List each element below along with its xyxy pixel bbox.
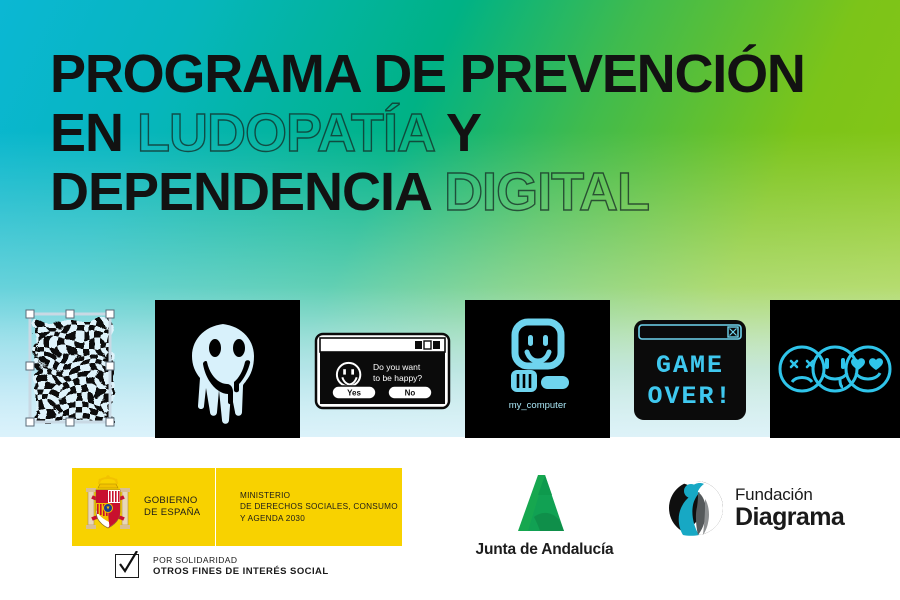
ministerio-line-3: Y AGENDA 2030: [240, 513, 398, 524]
melting-smiley-face-icon: [155, 300, 300, 438]
gobierno-label: GOBIERNO DE ESPAÑA: [144, 495, 216, 518]
retro-computer-smiley-icon: my_computer: [465, 300, 610, 438]
title-segment-y: Y: [433, 103, 481, 163]
solidarity-label: POR SOLIDARIDAD OTROS FINES DE INTERÉS S…: [153, 555, 329, 577]
dialog-no-button-label: No: [405, 389, 416, 398]
solidarity-line-1: POR SOLIDARIDAD: [153, 555, 329, 565]
dialog-window-icon[interactable]: Do you want to be happy? Yes No: [310, 300, 455, 438]
page-title: PROGRAMA DE PREVENCIÓN EN LUDOPATÍA Y DE…: [50, 48, 880, 225]
title-line-2: EN LUDOPATÍA Y: [50, 107, 880, 160]
junta-de-andalucia-logo: Junta de Andalucía: [462, 473, 627, 559]
poster-canvas: PROGRAMA DE PREVENCIÓN EN LUDOPATÍA Y DE…: [0, 0, 900, 600]
fundacion-diagrama-logo: Fundación Diagrama: [665, 477, 844, 539]
logo-band: GOBIERNO DE ESPAÑA MINISTERIO DE DERECHO…: [0, 455, 900, 600]
dialog-yes-button-label: Yes: [347, 389, 361, 398]
my-computer-label: my_computer: [509, 400, 567, 411]
title-segment-en: EN: [50, 103, 137, 163]
title-segment-digital: DIGITAL: [444, 162, 649, 222]
title-line-1: PROGRAMA DE PREVENCIÓN: [50, 48, 880, 101]
title-segment-programa: PROGRAMA DE PREVENCIÓN: [50, 44, 805, 104]
title-segment-dependencia: DEPENDENCIA: [50, 162, 444, 222]
game-over-line-2: OVER!: [647, 382, 732, 411]
tile-my-computer: my_computer: [465, 300, 610, 438]
game-over-line-1: GAME: [656, 351, 724, 380]
solidarity-checkbox[interactable]: [115, 554, 139, 578]
ministerio-line-1: MINISTERIO: [240, 490, 398, 501]
pixel-window-icon[interactable]: GAME OVER!: [620, 300, 765, 438]
tile-melting-smiley: [155, 300, 300, 438]
diagrama-line-1: Fundación: [735, 486, 844, 503]
junta-label: Junta de Andalucía: [462, 541, 627, 559]
gobierno-line-2: DE ESPAÑA: [144, 507, 216, 519]
solidarity-line-2: OTROS FINES DE INTERÉS SOCIAL: [153, 566, 329, 577]
dialog-message-line2: to be happy?: [373, 373, 422, 383]
gobierno-divider: [215, 468, 216, 546]
tile-three-faces: [770, 300, 900, 438]
gobierno-de-espana-logo: GOBIERNO DE ESPAÑA MINISTERIO DE DERECHO…: [72, 468, 402, 546]
title-segment-ludopatia: LUDOPATÍA: [137, 103, 433, 163]
diagrama-figure-logo-icon: [665, 477, 727, 539]
image-tile-strip: Do you want to be happy? Yes No: [0, 300, 900, 438]
andalusia-a-logo-icon: [504, 473, 586, 537]
tile-happy-dialog: Do you want to be happy? Yes No: [310, 300, 455, 438]
gobierno-line-1: GOBIERNO: [144, 495, 216, 507]
solidarity-mark: POR SOLIDARIDAD OTROS FINES DE INTERÉS S…: [115, 554, 329, 578]
diagrama-label: Fundación Diagrama: [735, 486, 844, 530]
title-line-3: DEPENDENCIA DIGITAL: [50, 166, 880, 219]
ministerio-line-2: DE DERECHOS SOCIALES, CONSUMO: [240, 501, 398, 512]
dialog-message-line1: Do you want: [373, 362, 421, 372]
check-icon: [117, 551, 139, 577]
three-emoticons-icon: [770, 300, 900, 438]
diagrama-line-2: Diagrama: [735, 504, 844, 530]
tile-game-over: GAME OVER!: [620, 300, 765, 438]
ministerio-label: MINISTERIO DE DERECHOS SOCIALES, CONSUMO…: [240, 490, 398, 523]
tile-checkerboard: [14, 300, 146, 438]
gobierno-yellow-box: GOBIERNO DE ESPAÑA MINISTERIO DE DERECHO…: [72, 468, 402, 546]
spanish-coat-of-arms-icon: [82, 475, 134, 539]
warped-checkerboard-selection-icon: [14, 300, 146, 438]
